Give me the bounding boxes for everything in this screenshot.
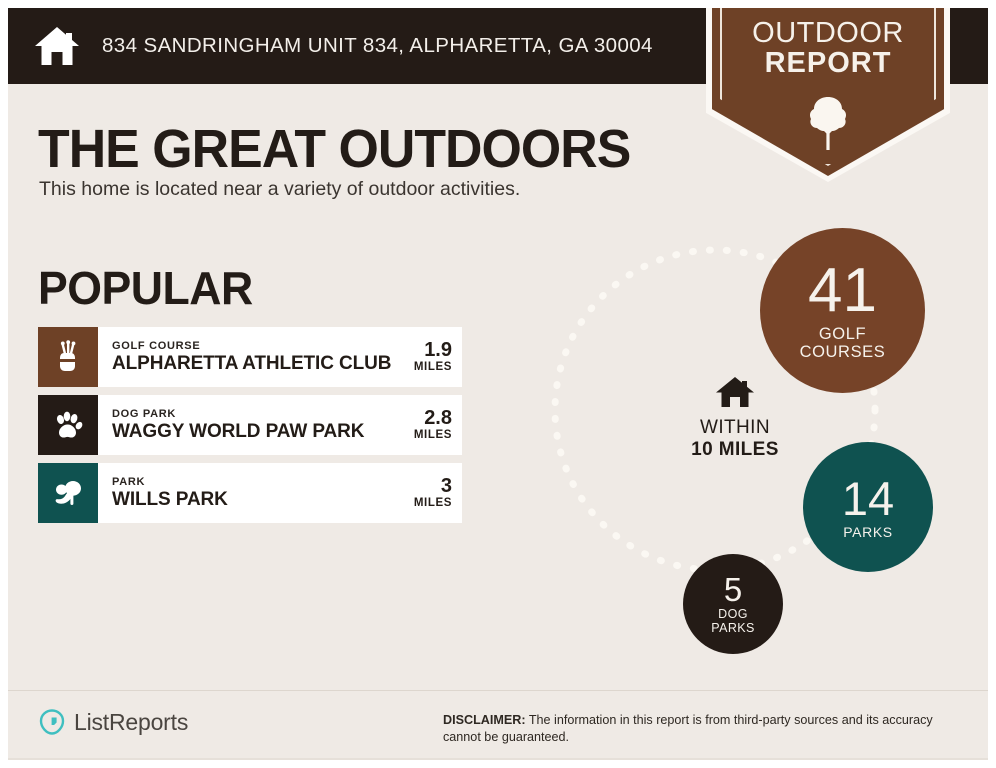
outdoor-report-page: 834 SANDRINGHAM UNIT 834, ALPHARETTA, GA…: [0, 0, 996, 768]
listreports-house-pin-icon: [38, 708, 66, 736]
badge-title: OUTDOOR REPORT: [706, 18, 950, 78]
list-item-icon-tile: [38, 395, 98, 455]
list-item-name: ALPHARETTA ATHLETIC CLUB: [112, 353, 391, 375]
list-item-distance-unit: MILES: [414, 361, 452, 374]
stat-value: 5: [724, 573, 742, 606]
list-item-body: DOG PARK WAGGY WORLD PAW PARK 2.8 MILES: [98, 395, 462, 455]
list-item-icon-tile: [38, 327, 98, 387]
list-item-body: GOLF COURSE ALPHARETTA ATHLETIC CLUB 1.9…: [98, 327, 462, 387]
outdoor-report-badge: OUTDOOR REPORT: [706, 0, 950, 182]
list-item-text: GOLF COURSE ALPHARETTA ATHLETIC CLUB: [112, 340, 391, 375]
listreports-logo-text: ListReports: [74, 709, 188, 736]
disclaimer-label: DISCLAIMER:: [443, 713, 526, 727]
list-item-distance: 2.8 MILES: [408, 408, 452, 442]
list-item-distance-unit: MILES: [414, 429, 452, 442]
list-item-text: DOG PARK WAGGY WORLD PAW PARK: [112, 408, 364, 443]
list-item-distance: 1.9 MILES: [408, 340, 452, 374]
list-item-category: PARK: [112, 476, 228, 489]
stat-label-line1: GOLF: [819, 326, 866, 343]
stat-label-line2: PARKS: [711, 622, 754, 635]
proximity-diagram: WITHIN 10 MILES 41 GOLF COURSES 14 PARKS…: [515, 210, 985, 670]
popular-heading: POPULAR: [38, 261, 253, 315]
list-item-distance-value: 1.9: [414, 340, 452, 361]
page-subtitle: This home is located near a variety of o…: [39, 178, 520, 201]
home-icon: [34, 25, 80, 67]
property-address: 834 SANDRINGHAM UNIT 834, ALPHARETTA, GA…: [102, 34, 653, 58]
stat-label-line1: DOG: [718, 608, 748, 621]
diagram-center-line2: 10 MILES: [655, 439, 815, 461]
list-item-icon-tile: [38, 463, 98, 523]
list-item[interactable]: PARK WILLS PARK 3 MILES: [38, 463, 462, 523]
stat-label-line1: PARKS: [843, 525, 892, 540]
stat-bubble-dog-parks[interactable]: 5 DOG PARKS: [683, 554, 783, 654]
park-trees-icon: [51, 476, 85, 510]
tree-icon: [807, 95, 849, 151]
footer-divider: [8, 690, 988, 691]
list-item-name: WAGGY WORLD PAW PARK: [112, 421, 364, 443]
disclaimer: DISCLAIMER: The information in this repo…: [443, 712, 973, 746]
stat-bubble-golf-courses[interactable]: 41 GOLF COURSES: [760, 228, 925, 393]
list-item-distance: 3 MILES: [408, 476, 452, 510]
paw-print-icon: [51, 408, 85, 442]
list-item-distance-value: 3: [414, 476, 452, 497]
list-item[interactable]: DOG PARK WAGGY WORLD PAW PARK 2.8 MILES: [38, 395, 462, 455]
stat-value: 41: [808, 260, 877, 322]
list-item-category: GOLF COURSE: [112, 340, 391, 353]
popular-list: GOLF COURSE ALPHARETTA ATHLETIC CLUB 1.9…: [38, 327, 462, 531]
listreports-logo[interactable]: ListReports: [38, 708, 188, 736]
list-item-name: WILLS PARK: [112, 489, 228, 511]
list-item-distance-value: 2.8: [414, 408, 452, 429]
list-item-body: PARK WILLS PARK 3 MILES: [98, 463, 462, 523]
footer-bottom-strip: [8, 758, 988, 760]
home-icon: [715, 375, 755, 409]
list-item-text: PARK WILLS PARK: [112, 476, 228, 511]
list-item-distance-unit: MILES: [414, 497, 452, 510]
golf-bag-icon: [51, 340, 85, 374]
badge-title-line1: OUTDOOR: [706, 18, 950, 48]
stat-bubble-parks[interactable]: 14 PARKS: [803, 442, 933, 572]
diagram-center: WITHIN 10 MILES: [655, 375, 815, 461]
stat-label-line2: COURSES: [800, 344, 886, 361]
diagram-center-line1: WITHIN: [655, 417, 815, 439]
page-title: THE GREAT OUTDOORS: [38, 118, 630, 180]
badge-title-line2: REPORT: [706, 48, 950, 78]
stat-value: 14: [842, 475, 894, 522]
list-item[interactable]: GOLF COURSE ALPHARETTA ATHLETIC CLUB 1.9…: [38, 327, 462, 387]
list-item-category: DOG PARK: [112, 408, 364, 421]
